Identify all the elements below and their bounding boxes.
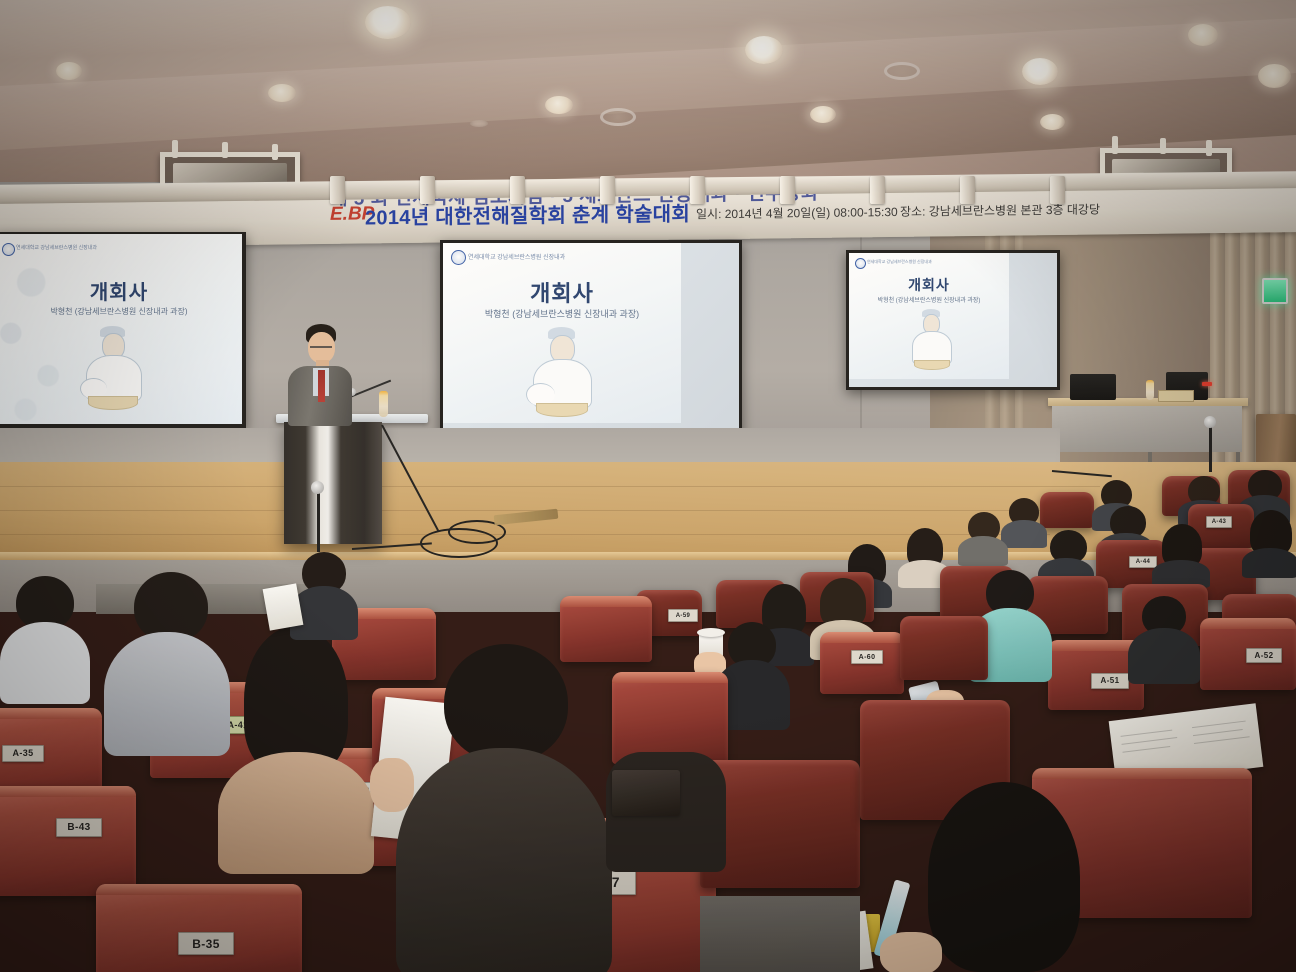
- floor-mic-head: [1204, 416, 1216, 428]
- seat[interactable]: [900, 616, 988, 680]
- cage-leg: [222, 142, 228, 158]
- banner-date: 일시: 2014년 4월 20일(일) 08:00-15:30: [696, 203, 898, 222]
- seat-top-edge: [1032, 768, 1252, 779]
- hand: [880, 932, 942, 972]
- ceiling-downlight: [365, 6, 411, 39]
- slide-surface: 연세대학교 강남세브란스병원 신장내과 개회사 박형천 (강남세브란스병원 신장…: [443, 243, 681, 423]
- truss-clamp: [510, 176, 525, 204]
- seat-tag: A-35: [2, 745, 44, 762]
- ceiling-downlight: [56, 62, 82, 80]
- av-nameplate: [1158, 390, 1194, 402]
- ceiling-downlight: [1040, 114, 1065, 130]
- book-text-line: [1193, 729, 1243, 736]
- book-text-line: [1192, 721, 1246, 729]
- seat-top-edge: [0, 708, 102, 719]
- slide-org-line: 연세대학교 강남세브란스병원 신장내과: [16, 244, 97, 251]
- bag: [612, 770, 680, 816]
- attendee-foreground: [918, 782, 1098, 972]
- seat-tag: A-52: [1246, 648, 1282, 663]
- seat-top-edge: [1200, 618, 1296, 629]
- attendee-hair: [928, 782, 1080, 972]
- av-table-skirt: [1052, 406, 1242, 452]
- attendee-hand: [880, 932, 942, 972]
- ceiling-downlight: [1258, 64, 1291, 88]
- ceiling-downlight: [810, 106, 836, 123]
- seat-top-edge: [0, 786, 136, 797]
- attendee-in-leather-jacket: [396, 644, 612, 972]
- ceiling-downlight: [745, 36, 783, 64]
- seat-tag: A-60: [851, 650, 883, 664]
- slide-subtitle: 박형천 (강남세브란스병원 신장내과 과장): [0, 306, 242, 317]
- truss-clamp: [960, 176, 975, 204]
- attendee-shoulders: [104, 632, 230, 756]
- handout-paper[interactable]: [263, 583, 304, 630]
- water-bottle: [1146, 380, 1154, 400]
- banner-venue: 장소: 강남세브란스병원 본관 3층 대강당: [900, 200, 1100, 219]
- ceiling-vent-ring: [884, 62, 920, 80]
- figure-lectern: [88, 396, 138, 410]
- slide-title: 개회사: [0, 276, 242, 305]
- right-projection-screen: 연세대학교 강남세브란스병원 신장내과 개회사 박형천 (강남세브란스병원 신장…: [849, 253, 1057, 387]
- equipment-indicator-light: [1202, 382, 1212, 386]
- center-projection-screen: 연세대학교 강남세브란스병원 신장내과 개회사 박형천 (강남세브란스병원 신장…: [443, 243, 739, 435]
- slide-org-line: 연세대학교 강남세브란스병원 신장내과: [468, 252, 565, 261]
- attendee-in-tan-coat: [218, 626, 374, 866]
- water-bottle: [379, 391, 388, 417]
- ceiling-downlight: [545, 96, 573, 114]
- attendee-shoulders: [396, 748, 612, 972]
- truss-clamp: [330, 176, 345, 204]
- truss-clamp: [780, 176, 795, 204]
- book-text-line: [1122, 746, 1170, 753]
- seat-top-edge: [96, 884, 302, 895]
- slide-title: 개회사: [849, 275, 1009, 295]
- slide-subtitle: 박형천 (강남세브란스병원 신장내과 과장): [443, 307, 681, 320]
- auditorium-photo: 제 5 회 연세국제 심포지엄 · 5 세브란스 신장내과 · 연수강좌 E.B…: [0, 0, 1296, 972]
- seat-tag: A-59: [668, 609, 698, 622]
- seat-top-edge: [820, 632, 904, 643]
- attendee-shoulders: [0, 622, 90, 704]
- left-projection-screen: 연세대학교 강남세브란스병원 신장내과 개회사 박형천 (강남세브란스병원 신장…: [0, 234, 242, 424]
- floor-mic-head: [311, 481, 324, 494]
- attendee-shoulders: [958, 536, 1008, 566]
- seat-top-edge: [560, 596, 652, 607]
- ceiling-downlight: [268, 84, 296, 102]
- floor-plank: [0, 534, 1050, 535]
- cage-leg: [1160, 138, 1166, 154]
- banner-title: 2014년 대한전해질학회 춘계 학술대회: [365, 197, 690, 230]
- seat[interactable]: [612, 672, 728, 764]
- seat[interactable]: [1040, 492, 1094, 528]
- presenter: [286, 324, 356, 424]
- seat-tag: A-51: [1091, 673, 1129, 689]
- cage-leg: [1112, 136, 1118, 154]
- smoke-detector: [470, 120, 488, 127]
- lectern-body: [284, 422, 382, 544]
- attendee-shoulders: [1128, 628, 1200, 684]
- seat-tag: B-43: [56, 818, 102, 837]
- slide-logo-icon: [451, 250, 466, 265]
- eyeglasses: [310, 346, 332, 348]
- attendee: [1242, 510, 1296, 572]
- attendee-shoulders: [218, 752, 374, 874]
- book-text-line: [1194, 736, 1250, 744]
- attendee-in-light-jacket: [104, 572, 230, 752]
- attendee-shoulders: [1242, 548, 1296, 578]
- truss-clamp: [1050, 176, 1065, 204]
- truss-clamp: [420, 176, 435, 204]
- slide-title: 개회사: [443, 276, 681, 308]
- seat-top-edge: [612, 672, 728, 683]
- floor-plank: [0, 486, 1100, 487]
- ceiling-downlight: [1022, 58, 1058, 85]
- slide-figure: [508, 327, 618, 417]
- truss-clamp: [690, 176, 705, 204]
- figure-lectern: [914, 360, 950, 370]
- slide-surface: 연세대학교 강남세브란스병원 신장내과 개회사 박형천 (강남세브란스병원 신장…: [849, 253, 1009, 379]
- av-monitor: [1070, 374, 1116, 400]
- truss-clamp: [870, 176, 885, 204]
- ceiling-downlight: [1188, 24, 1218, 46]
- attendee: [1152, 524, 1210, 582]
- floor-mic-stand: [1209, 424, 1212, 472]
- truss-clamp: [600, 176, 615, 204]
- slide-logo-icon: [855, 258, 866, 269]
- slide-org-line: 연세대학교 강남세브란스병원 신장내과: [867, 259, 932, 265]
- aisle-floor: [700, 896, 860, 972]
- figure-lectern: [536, 403, 588, 417]
- slide-subtitle: 박형천 (강남세브란스병원 신장내과 과장): [849, 295, 1009, 304]
- attendee: [1128, 596, 1200, 680]
- seat-tag: B-35: [178, 932, 234, 955]
- slide-figure: [58, 326, 168, 412]
- book-text-line: [1121, 730, 1173, 737]
- floor-mic-stand: [317, 490, 320, 552]
- seat[interactable]: [0, 786, 136, 896]
- cage-leg: [1206, 140, 1212, 156]
- slide-logo-icon: [2, 243, 15, 256]
- slide-figure: [895, 309, 969, 371]
- exit-sign: [1262, 278, 1288, 304]
- attendee-head: [444, 644, 568, 762]
- attendee: [958, 512, 1008, 564]
- ceiling-vent-ring: [600, 108, 636, 126]
- book-text-line: [1122, 737, 1178, 745]
- cage-leg: [272, 144, 278, 160]
- cage-leg: [172, 140, 178, 158]
- presenter-tie: [318, 370, 325, 402]
- attendee: [0, 576, 90, 696]
- seat[interactable]: [96, 884, 302, 972]
- slide-surface: 연세대학교 강남세브란스병원 신장내과 개회사 박형천 (강남세브란스병원 신장…: [0, 234, 242, 424]
